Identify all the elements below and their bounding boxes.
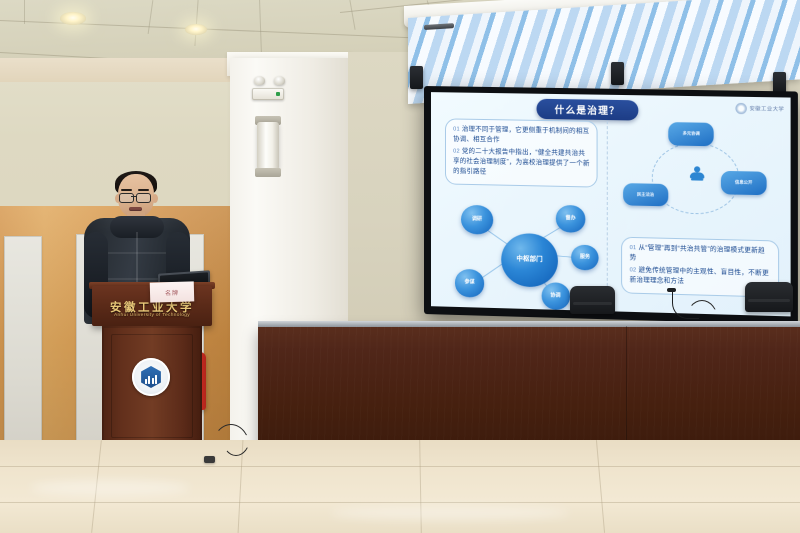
bullet-number: 02 [630,267,637,273]
emergency-light-box [252,88,284,100]
emblem-hexagon [140,366,162,388]
bullet-item: 02党的二十大报告中指出，“健全共建共治共享的社会治理制度”，为高校治理提供了一… [453,146,590,179]
cluster-pill-label: 多元协调 [683,132,700,137]
slide: 什么是治理？ 安徽工业大学 01治理不同于管理，它更侧重于机制间的相互协调、相互… [431,92,791,316]
slide-logo-text: 安徽工业大学 [749,105,784,113]
governance-cluster-diagram: 多元协调 民主法治 信息公开 [620,119,784,236]
person-base [691,178,703,181]
bullet-item: 01从“管理”再到“共治共管”的治理模式更新趋势 [630,243,772,267]
eyeglass-bridge [131,196,137,197]
network-node-label: 服务 [580,255,590,261]
slide-card-left: 01治理不同于管理，它更侧重于机制间的相互协调、相互合作 02党的二十大报告中指… [445,118,598,187]
podium-title-en: Anhui University of Technology [92,313,212,318]
network-node-center: 中枢部门 [501,233,558,288]
soffit-vent [424,23,454,30]
cluster-pill-1: 民主法治 [623,183,669,207]
eyeglass-lens-right [136,193,151,203]
emergency-led [276,92,280,96]
bullet-text: 治理不同于管理，它更侧重于机制间的相互协调、相互合作 [453,126,589,144]
ceiling-speaker-left [410,66,423,89]
network-node-1: 督办 [556,205,585,232]
cluster-pill-0: 多元协调 [668,122,714,146]
emblem-bars [145,375,157,384]
sconce-cap-bottom [255,168,281,177]
emergency-light-right [274,76,285,85]
person-icon [690,166,704,183]
cluster-pill-2: 信息公开 [721,171,767,195]
bullet-text: 从“管理”再到“共治共管”的治理模式更新趋势 [630,244,765,261]
network-node-4: 参谋 [455,269,485,297]
slide-title: 什么是治理？ [536,99,638,121]
network-node-2: 服务 [571,244,598,270]
network-node-label: 协调 [550,293,560,299]
cluster-pill-label: 信息公开 [735,181,752,186]
downlight-2 [185,24,207,35]
floor [0,440,800,533]
eyeglass-lens-left [119,193,134,203]
network-node-center-label: 中枢部门 [516,256,542,264]
bullet-number: 02 [453,148,460,154]
lecture-hall-photo: 什么是治理？ 安徽工业大学 01治理不同于管理，它更侧重于机制间的相互协调、相互… [0,0,800,533]
emergency-light-left [254,76,265,85]
network-node-3: 协调 [541,282,570,309]
person-ear-right [152,194,158,203]
network-node-label: 参谋 [464,280,474,286]
cluster-pill-label: 民主法治 [637,192,654,197]
bullet-number: 01 [453,127,460,133]
bullet-item: 01治理不同于管理，它更侧重于机制间的相互协调、相互合作 [453,124,590,146]
downlight-1 [60,12,86,25]
person-head [694,166,700,172]
nameplate: 名牌 [150,281,195,302]
chair-left[interactable] [570,286,615,314]
slide-divider [607,121,608,291]
power-plug [204,456,215,463]
bullet-number: 01 [630,245,637,251]
table-microphone-base [667,288,676,292]
person-mouth [129,207,142,211]
bullet-text: 党的二十大报告中指出，“健全共建共治共享的社会治理制度”，为高校治理提供了一个新… [453,148,590,175]
nameplate-text: 名牌 [165,287,179,296]
network-node-label: 调研 [472,217,482,222]
wall-sconce [257,122,279,170]
ceiling-speaker-center [611,62,624,85]
person-brow-left [121,189,132,191]
university-emblem [132,358,170,396]
person-brow-right [138,189,149,191]
network-node-label: 督办 [566,216,576,222]
slide-logo: 安徽工业大学 [736,103,784,115]
chair-right[interactable] [745,282,793,312]
university-logo-icon [736,103,747,114]
network-node-0: 调研 [461,205,493,234]
